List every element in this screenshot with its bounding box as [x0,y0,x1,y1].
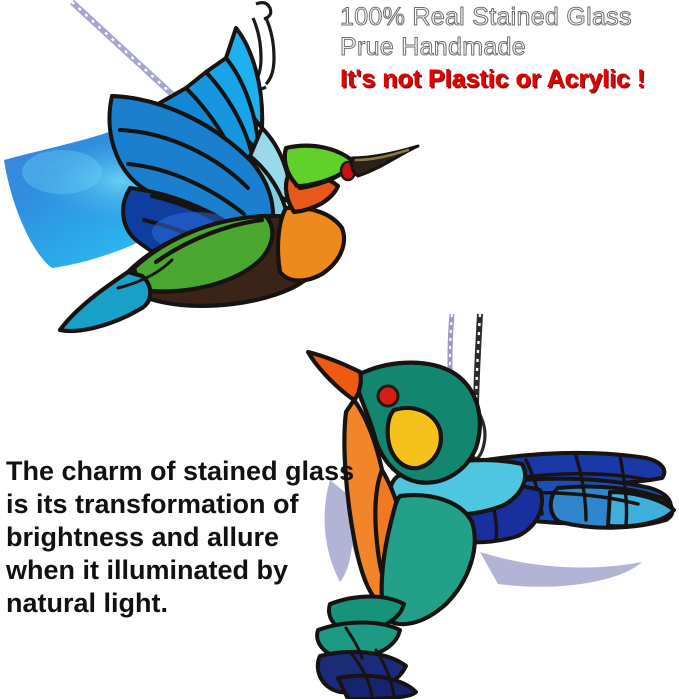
headline-line-1: 100% Real Stained Glass [340,2,675,32]
charm-line-3: brightness and allure [6,521,406,554]
headline-line-2: Prue Handmade [340,32,675,62]
bird-eye [378,386,398,406]
charm-line-2: is its transformation of [6,488,406,521]
headline-block: 100% Real Stained Glass Prue Handmade It… [340,2,675,95]
charm-line-4: when it illuminated by [6,554,406,587]
charm-text-block: The charm of stained glass is its transf… [6,455,406,620]
headline-line-3: It's not Plastic or Acrylic ! [340,64,675,95]
charm-line-5: natural light. [6,587,406,620]
product-image-canvas: 100% Real Stained Glass Prue Handmade It… [0,0,679,699]
charm-line-1: The charm of stained glass [6,455,406,488]
